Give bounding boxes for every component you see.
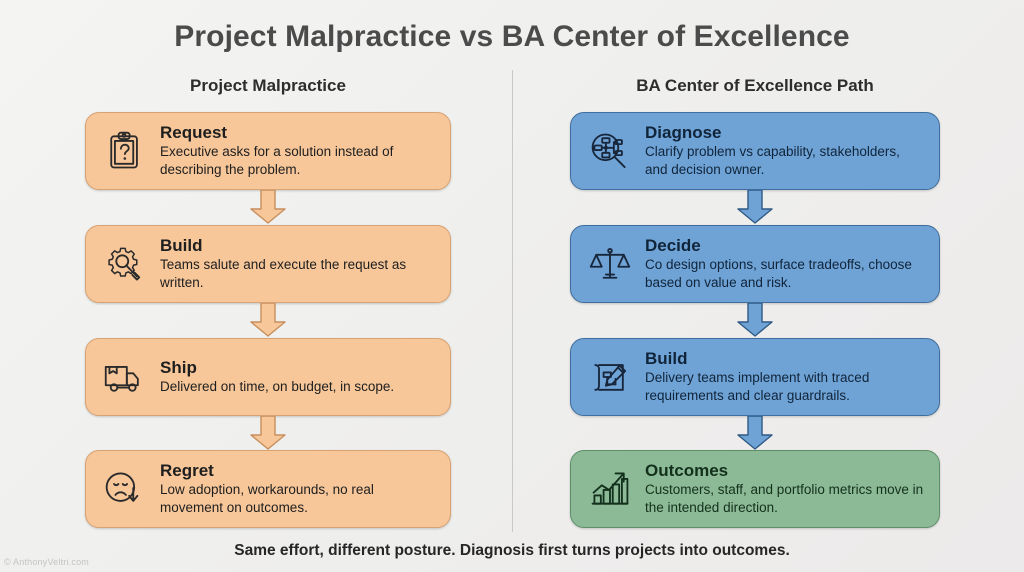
card-title: Outcomes bbox=[645, 461, 728, 480]
card-decide[interactable]: Decide Co design options, surface tradeo… bbox=[570, 225, 940, 303]
card-description: Delivered on time, on budget, in scope. bbox=[160, 378, 436, 395]
card-diagnose[interactable]: Diagnose Clarify problem vs capability, … bbox=[570, 112, 940, 190]
watermark: © AnthonyVeltri.com bbox=[4, 557, 89, 567]
card-description: Executive asks for a solution instead of… bbox=[160, 143, 436, 178]
slide-canvas: Project Malpractice vs BA Center of Exce… bbox=[0, 0, 1024, 572]
blueprint-pencil-icon bbox=[587, 354, 633, 400]
card-title: Request bbox=[160, 123, 227, 142]
card-title: Regret bbox=[160, 461, 214, 480]
card-outcomes[interactable]: Outcomes Customers, staff, and portfolio… bbox=[570, 450, 940, 528]
card-title: Build bbox=[160, 236, 203, 255]
connector-arrow-build-outcomes bbox=[735, 416, 775, 450]
sad-face-down-arrow-icon bbox=[102, 466, 148, 512]
card-description: Low adoption, workarounds, no real movem… bbox=[160, 481, 436, 516]
connector-arrow-ship-regret bbox=[248, 416, 288, 450]
card-title: Ship bbox=[160, 358, 197, 377]
card-request[interactable]: Request Executive asks for a solution in… bbox=[85, 112, 451, 190]
card-title: Decide bbox=[645, 236, 701, 255]
card-build-left[interactable]: Build Teams salute and execute the reque… bbox=[85, 225, 451, 303]
card-description: Co design options, surface tradeoffs, ch… bbox=[645, 256, 925, 291]
connector-arrow-build-ship bbox=[248, 303, 288, 337]
clipboard-question-icon bbox=[102, 128, 148, 174]
page-title: Project Malpractice vs BA Center of Exce… bbox=[0, 20, 1024, 54]
connector-arrow-diagnose-decide bbox=[735, 190, 775, 224]
balance-scale-icon bbox=[587, 241, 633, 287]
card-description: Teams salute and execute the request as … bbox=[160, 256, 436, 291]
card-title: Build bbox=[645, 349, 688, 368]
connector-arrow-decide-build bbox=[735, 303, 775, 337]
card-description: Delivery teams implement with traced req… bbox=[645, 369, 925, 404]
card-regret[interactable]: Regret Low adoption, workarounds, no rea… bbox=[85, 450, 451, 528]
column-divider bbox=[512, 70, 513, 532]
connector-arrow-request-build bbox=[248, 190, 288, 224]
card-build-right[interactable]: Build Delivery teams implement with trac… bbox=[570, 338, 940, 416]
card-description: Clarify problem vs capability, stakehold… bbox=[645, 143, 925, 178]
growth-bar-chart-icon bbox=[587, 466, 633, 512]
column-heading-left: Project Malpractice bbox=[85, 76, 451, 96]
card-ship[interactable]: Ship Delivered on time, on budget, in sc… bbox=[85, 338, 451, 416]
gear-wrench-icon bbox=[102, 241, 148, 287]
card-title: Diagnose bbox=[645, 123, 722, 142]
footer-caption: Same effort, different posture. Diagnosi… bbox=[0, 542, 1024, 560]
delivery-truck-icon bbox=[102, 354, 148, 400]
column-heading-right: BA Center of Excellence Path bbox=[570, 76, 940, 96]
magnifier-network-icon bbox=[587, 128, 633, 174]
card-description: Customers, staff, and portfolio metrics … bbox=[645, 481, 925, 516]
